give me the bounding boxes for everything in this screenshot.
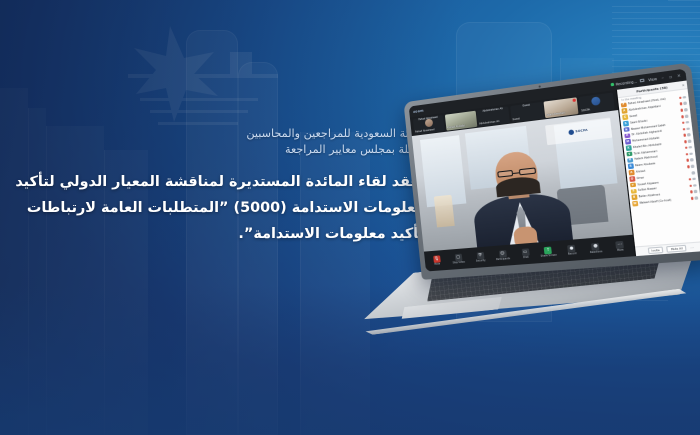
security-icon: ⛨ xyxy=(476,252,484,260)
participant-status-icons xyxy=(684,140,692,144)
microphone-muted-icon xyxy=(687,165,690,168)
avatar: G xyxy=(622,114,628,120)
participant-status-icons xyxy=(681,114,689,118)
avatar: O xyxy=(629,176,635,181)
control-record[interactable]: ● Record xyxy=(562,244,581,257)
participant-status-icons xyxy=(684,146,692,150)
video-camera-icon xyxy=(689,146,692,149)
control-share-screen[interactable]: ↑ Share Screen xyxy=(539,246,558,259)
banner-stage: الهيئة السعودية للمراجعين والمحاسبين ممث… xyxy=(0,0,700,435)
video-camera-icon xyxy=(692,171,695,174)
video-camera-icon xyxy=(687,133,690,136)
microphone-muted-icon xyxy=(679,96,682,99)
avatar: N xyxy=(624,127,630,132)
microphone-muted-icon xyxy=(683,134,686,137)
mute-all-button[interactable]: Mute All xyxy=(667,244,688,253)
video-camera-icon xyxy=(684,108,687,111)
microphone-muted-icon xyxy=(573,98,577,102)
thumbnail-tile[interactable]: Fahad Alrasheed Fahad Alrasheed xyxy=(413,115,445,135)
record-icon: ● xyxy=(567,244,575,252)
thumbnail-top-label: Guest xyxy=(511,102,542,109)
participant-status-icons xyxy=(680,108,688,112)
reactions-icon: ☻ xyxy=(591,242,600,250)
participant-status-icons xyxy=(690,196,698,200)
microphone-muted-icon xyxy=(682,127,685,130)
avatar: S xyxy=(631,188,637,193)
meeting-stage: Fahad Alrasheed Fahad Alrasheed Ahmed Al… xyxy=(410,90,635,272)
close-icon[interactable]: ✕ xyxy=(681,82,684,87)
microphone-muted-icon xyxy=(685,153,688,156)
view-label: View xyxy=(648,76,657,81)
microphone-icon: 🎙 xyxy=(433,255,441,263)
more-icon[interactable]: ⋯ xyxy=(690,245,694,250)
control-label: Participants xyxy=(496,257,510,261)
video-camera-icon xyxy=(684,102,687,105)
video-camera-icon xyxy=(693,177,696,180)
video-camera-icon xyxy=(688,140,691,143)
participant-status-icons xyxy=(687,165,695,169)
video-camera-icon: ▢ xyxy=(454,253,462,261)
minimize-icon[interactable]: – xyxy=(660,75,665,80)
microphone-muted-icon xyxy=(681,121,684,124)
participant-status-icons xyxy=(692,171,695,174)
share-screen-icon: ↑ xyxy=(544,246,552,254)
thumbnail-tile[interactable]: Saad Almutairi xyxy=(544,97,579,118)
view-button[interactable]: View xyxy=(648,76,657,81)
control-label: More xyxy=(617,249,624,253)
invite-button[interactable]: Invite xyxy=(647,246,664,254)
avatar: S xyxy=(623,121,629,127)
video-camera-icon xyxy=(686,121,689,124)
participant-status-icons xyxy=(690,190,698,194)
video-camera-icon xyxy=(690,158,693,161)
control-mute[interactable]: 🎙 Mute xyxy=(428,255,445,267)
avatar xyxy=(424,119,433,128)
zoom-logo: zoom xyxy=(413,108,424,113)
video-camera-icon xyxy=(690,152,693,155)
control-reactions[interactable]: ☻ Reactions xyxy=(586,242,605,255)
avatar: A xyxy=(624,133,630,138)
webcam-icon xyxy=(538,85,540,87)
microphone-muted-icon xyxy=(684,146,687,149)
microphone-muted-icon xyxy=(690,190,693,193)
avatar: R xyxy=(628,164,634,169)
microphone-muted-icon xyxy=(688,178,691,181)
avatar xyxy=(591,97,601,107)
video-camera-icon xyxy=(695,196,698,199)
control-chat[interactable]: ▭ Chat xyxy=(516,248,534,260)
video-camera-icon xyxy=(683,96,686,99)
laptop-mockup: zoom Recording... View – ▫ xyxy=(340,69,700,336)
maximize-icon[interactable]: ▫ xyxy=(668,74,673,79)
meeting-app-window: zoom Recording... View – ▫ xyxy=(409,69,700,272)
participant-status-icons xyxy=(679,102,687,106)
close-icon[interactable]: ✕ xyxy=(676,73,681,78)
microphone-muted-icon xyxy=(686,159,689,162)
video-camera-icon xyxy=(691,165,694,168)
participant-status-icons xyxy=(679,96,687,100)
video-camera-icon xyxy=(694,190,697,193)
microphone-muted-icon xyxy=(684,140,687,143)
thumbnail-tile[interactable]: Ahmed Alotaibi xyxy=(444,110,477,130)
participants-panel-title: Participants (38) xyxy=(636,85,668,93)
thumbnail-tile[interactable]: Abdulrahman Ali Abdulrahman Ali xyxy=(477,106,510,126)
recording-dot-icon xyxy=(611,83,614,86)
microphone-muted-icon xyxy=(689,184,692,187)
control-label: Security xyxy=(476,259,486,263)
control-label: Stop Video xyxy=(453,261,466,265)
avatar: A xyxy=(621,108,627,114)
participant-status-icons xyxy=(681,121,689,125)
socpa-wordmark: SOCPA xyxy=(575,128,588,134)
participant-status-icons xyxy=(688,177,696,181)
participants-icon: ☺ xyxy=(498,250,506,258)
avatar: F xyxy=(621,102,627,108)
participant-status-icons xyxy=(686,158,694,162)
video-camera-icon xyxy=(687,127,690,130)
chat-icon: ▭ xyxy=(521,248,529,256)
control-more[interactable]: ⋯ More xyxy=(610,240,630,253)
laptop-display: zoom Recording... View – ▫ xyxy=(409,69,700,272)
avatar: M xyxy=(625,139,631,144)
thumbnail-tile[interactable]: Guest Guest xyxy=(510,101,544,122)
avatar: W xyxy=(632,201,638,206)
participant-status-icons xyxy=(682,127,690,131)
control-label: Mute xyxy=(434,263,440,266)
control-security[interactable]: ⛨ Security xyxy=(472,251,490,263)
control-stop-video[interactable]: ▢ Stop Video xyxy=(450,253,467,265)
speaker-person xyxy=(467,144,573,247)
recording-label: Recording... xyxy=(615,79,637,86)
participant-status-icons xyxy=(689,184,697,188)
avatar: Y xyxy=(630,182,636,187)
control-label: Record xyxy=(568,252,577,256)
thumbnail-tile[interactable]: SOCPA xyxy=(579,92,615,113)
video-camera-icon xyxy=(685,114,688,117)
control-label: Chat xyxy=(523,256,529,260)
laptop-lid: zoom Recording... View – ▫ xyxy=(403,62,700,279)
recording-indicator: Recording... xyxy=(611,79,637,87)
socpa-seal-icon xyxy=(568,129,574,135)
control-participants[interactable]: ☺ Participants xyxy=(494,249,512,261)
microphone-muted-icon xyxy=(679,102,682,105)
participant-status-icons xyxy=(683,133,691,137)
thumbnail-top-label: Abdulrahman Ali xyxy=(478,107,508,114)
more-icon: ⋯ xyxy=(615,240,624,248)
microphone-muted-icon xyxy=(681,115,684,118)
control-label: Share Screen xyxy=(541,254,558,258)
participant-status-icons xyxy=(685,152,693,156)
avatar: B xyxy=(631,195,637,200)
control-label: Reactions xyxy=(590,250,603,254)
video-camera-icon xyxy=(693,184,696,187)
avatar: A xyxy=(629,170,635,175)
microphone-muted-icon xyxy=(690,197,693,200)
view-layout-button[interactable] xyxy=(640,79,645,83)
microphone-muted-icon xyxy=(680,109,683,112)
avatar: H xyxy=(627,158,633,163)
avatar: K xyxy=(626,145,632,150)
active-speaker-tile[interactable]: SOCPA xyxy=(412,110,633,252)
